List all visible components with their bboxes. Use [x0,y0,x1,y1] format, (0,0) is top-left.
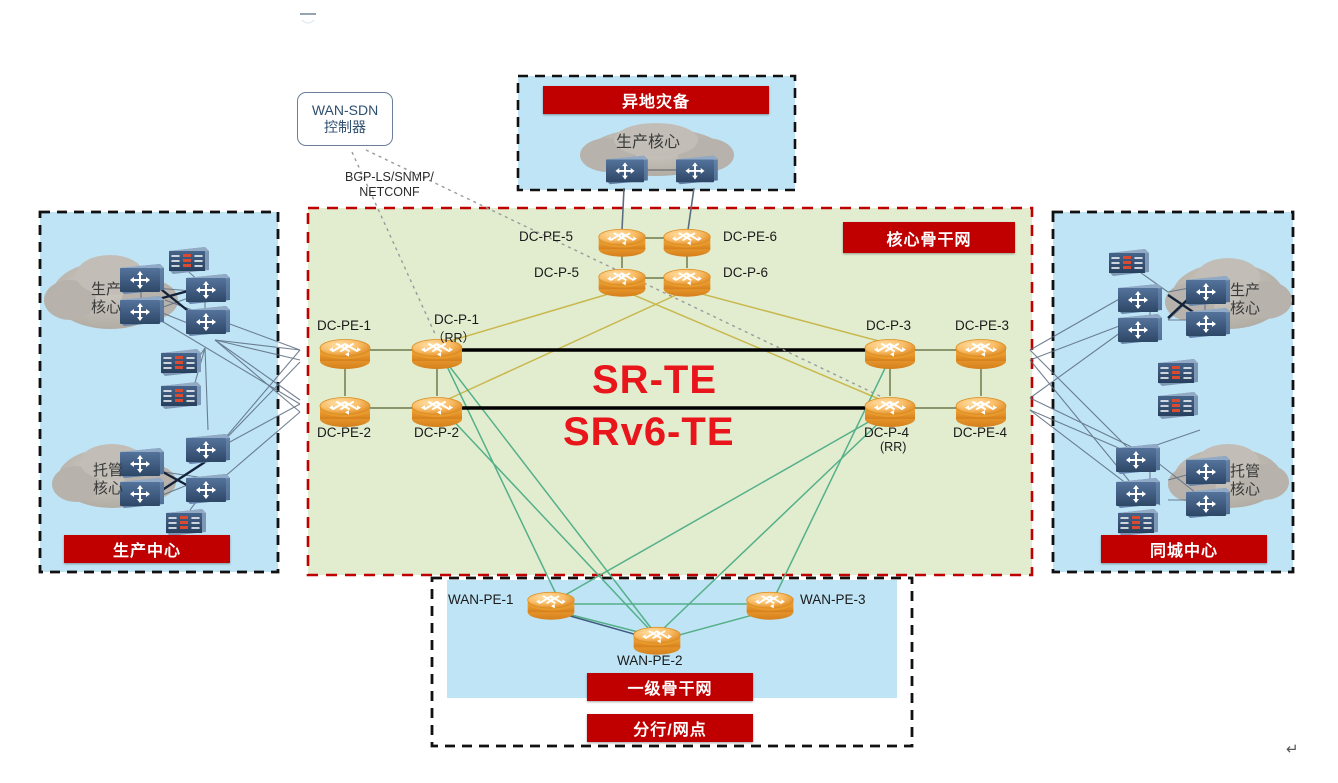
node-label-wan-pe-2: WAN-PE-2 [617,653,683,668]
router-icon-dc-p-3 [865,340,915,370]
cloud-label-production-core-right: 生产 核心 [1215,282,1275,318]
cloud-label-hosting-core-left: 托管 核心 [78,462,138,498]
zone-label-disaster-recovery: 异地灾备 [543,86,769,114]
router-icon-dc-pe-4 [956,398,1006,428]
metro-center-zone [1053,212,1293,572]
switch-icon [1116,444,1160,474]
cloud-text: 托管 核心 [78,462,138,498]
pilcrow-mark: ↵ [1286,740,1299,758]
cloud-label-dr-production-core: 生产核心 [616,128,680,152]
firewall-icon [1118,509,1158,536]
node-label-dc-p-3: DC-P-3 [866,318,911,333]
node-label-dc-p-1: DC-P-1 [434,312,479,327]
firewall-icon [166,509,206,536]
node-label-dc-pe-2: DC-PE-2 [317,425,371,440]
switch-icon [676,156,718,185]
router-icon-wan-pe-3 [747,592,794,620]
router-icon-dc-pe-6 [664,229,711,257]
controller-line1: WAN-SDN [312,102,378,120]
firewall-icon [169,247,209,274]
wan-sdn-controller-box[interactable]: WAN-SDN 控制器 [297,92,393,146]
switch-icon [1118,314,1162,344]
router-icon-wan-pe-1 [528,592,575,620]
zone-label-branch: 分行/网点 [587,714,753,742]
switch-icon [186,434,230,464]
router-icon-dc-pe-5 [599,229,646,257]
node-label-dc-pe-5: DC-PE-5 [519,229,573,244]
router-icon-wan-pe-2 [634,627,681,655]
node-label-dc-p-6: DC-P-6 [723,265,768,280]
switch-icon [186,274,230,304]
cloud-label-production-core-left: 生产 核心 [76,281,136,317]
switch-icon [186,474,230,504]
node-label-dc-pe-3: DC-PE-3 [955,318,1009,333]
diagram-canvas: WAN-SDN 控制器 BGP-LS/SNMP/ NETCONF 核心骨干网 异… [0,0,1338,783]
zone-label-primary-backbone: 一级骨干网 [587,673,753,701]
router-icon-dc-p-5 [599,269,646,297]
firewall-icon [161,349,201,376]
cloud-label-hosting-core-right: 托管 核心 [1215,463,1275,499]
controller-protocol-label: BGP-LS/SNMP/ NETCONF [345,170,434,201]
node-label-dc-p-5: DC-P-5 [534,265,579,280]
cloud-text: 生产 核心 [76,281,136,317]
sr-te-label: SR-TE [592,358,717,403]
router-icon-dc-p-2 [412,398,462,428]
node-label-wan-pe-1: WAN-PE-1 [448,592,514,607]
node-label-dc-pe-1: DC-PE-1 [317,318,371,333]
firewall-icon [1158,359,1198,386]
switch-icon [1116,478,1160,508]
router-icon-dc-pe-3 [956,340,1006,370]
cloud-text: 托管 核心 [1215,463,1275,499]
router-icon-dc-p-6 [664,269,711,297]
stray-mark [300,14,316,23]
node-label-dc-p-1-rr: （RR） [432,327,475,346]
cloud-text: 生产 核心 [1215,282,1275,318]
node-label-dc-p-2: DC-P-2 [414,425,459,440]
zone-label-core-backbone: 核心骨干网 [843,222,1015,253]
switch-icon [606,156,648,185]
zone-label-production-center: 生产中心 [64,535,230,563]
firewall-icon [1109,249,1149,276]
controller-line2: 控制器 [324,119,366,137]
srv6-te-label: SRv6-TE [563,410,735,455]
node-label-dc-p-4: DC-P-4 [864,425,909,440]
protocol-line-2: NETCONF [345,185,434,200]
node-label-dc-pe-4: DC-PE-4 [953,425,1007,440]
protocol-line-1: BGP-LS/SNMP/ [345,170,434,185]
switch-icon [1118,284,1162,314]
switch-icon [186,306,230,336]
zone-label-metro-center: 同城中心 [1101,535,1267,563]
router-icon-dc-pe-2 [320,398,370,428]
router-icon-dc-p-4 [865,398,915,428]
router-icon-dc-pe-1 [320,340,370,370]
firewall-icon [161,382,201,409]
node-label-dc-p-4-rr: (RR) [880,440,906,454]
node-label-wan-pe-3: WAN-PE-3 [800,592,866,607]
node-label-dc-pe-6: DC-PE-6 [723,229,777,244]
firewall-icon [1158,392,1198,419]
